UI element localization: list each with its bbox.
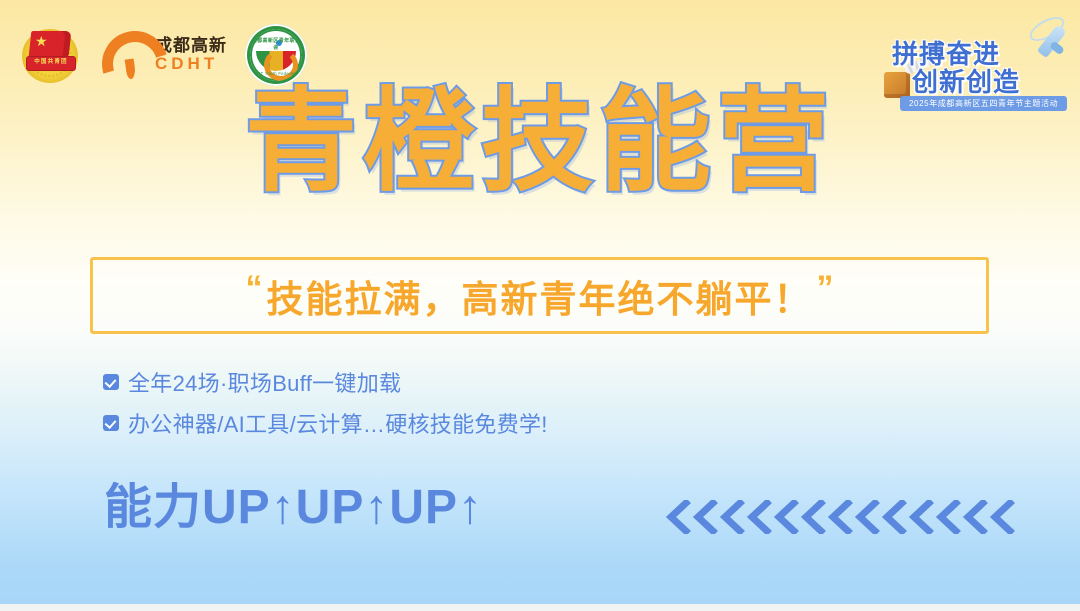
communist-youth-league-emblem: 中国共青团 <box>18 23 82 87</box>
chevron-left-icon <box>936 500 962 534</box>
list-item: 办公神器/AI工具/云计算…硬核技能免费学! <box>103 407 548 439</box>
youth-federation-seal: 成都高新区青年联合会 CDHT Youth Federation <box>245 24 307 86</box>
rocket-icon <box>1014 18 1068 70</box>
list-item: 全年24场·职场Buff一键加载 <box>103 366 548 398</box>
power-up-text: 能力UP↑UP↑UP↑ <box>104 484 483 532</box>
slogan-text: 技能拉满，高新青年绝不躺平！ <box>267 269 813 323</box>
seal-label-cn: 成都高新区青年联合会 <box>250 37 302 51</box>
checkbox-checked-icon <box>103 374 119 390</box>
seal-e-icon <box>264 49 298 81</box>
chevron-left-icon <box>855 500 881 534</box>
chevron-left-icon <box>666 500 692 534</box>
cdht-logo: 成都高新 CDHT <box>100 25 227 85</box>
chevron-left-icon <box>990 500 1016 534</box>
bottom-slogan-row: 能力UP↑UP↑UP↑ <box>104 484 483 532</box>
chevron-left-icon <box>801 500 827 534</box>
chevron-left-icon <box>693 500 719 534</box>
seal-label-en: CDHT Youth Federation <box>250 71 302 76</box>
chevron-left-icon <box>882 500 908 534</box>
close-quote-mark: ” <box>817 271 834 305</box>
open-quote-mark: “ <box>246 271 263 305</box>
feature-list: 全年24场·职场Buff一键加载 办公神器/AI工具/云计算…硬核技能免费学! <box>103 366 548 448</box>
cdht-swoosh-icon <box>100 27 152 83</box>
chevron-left-icon <box>963 500 989 534</box>
chevron-left-icon <box>747 500 773 534</box>
chevron-left-icon <box>909 500 935 534</box>
poster-canvas: 中国共青团 成都高新 CDHT 成都高新区青年联合会 CDHT Youth Fe… <box>0 0 1080 611</box>
slogan-box: “ 技能拉满，高新青年绝不躺平！ ” <box>90 257 989 334</box>
emblem-ribbon-label: 中国共青团 <box>27 57 75 68</box>
chevron-left-icon <box>720 500 746 534</box>
bottom-strip <box>0 604 1080 611</box>
checkbox-checked-icon <box>103 415 119 431</box>
chevron-arrow-strip <box>666 500 1016 534</box>
chevron-left-icon <box>828 500 854 534</box>
list-item-label: 办公神器/AI工具/云计算…硬核技能免费学! <box>128 407 548 439</box>
chevron-left-icon <box>774 500 800 534</box>
page-title: 青橙技能营 <box>0 86 1080 198</box>
emblem-ribbon: 中国共青团 <box>26 56 76 71</box>
list-item-label: 全年24场·职场Buff一键加载 <box>128 366 401 398</box>
